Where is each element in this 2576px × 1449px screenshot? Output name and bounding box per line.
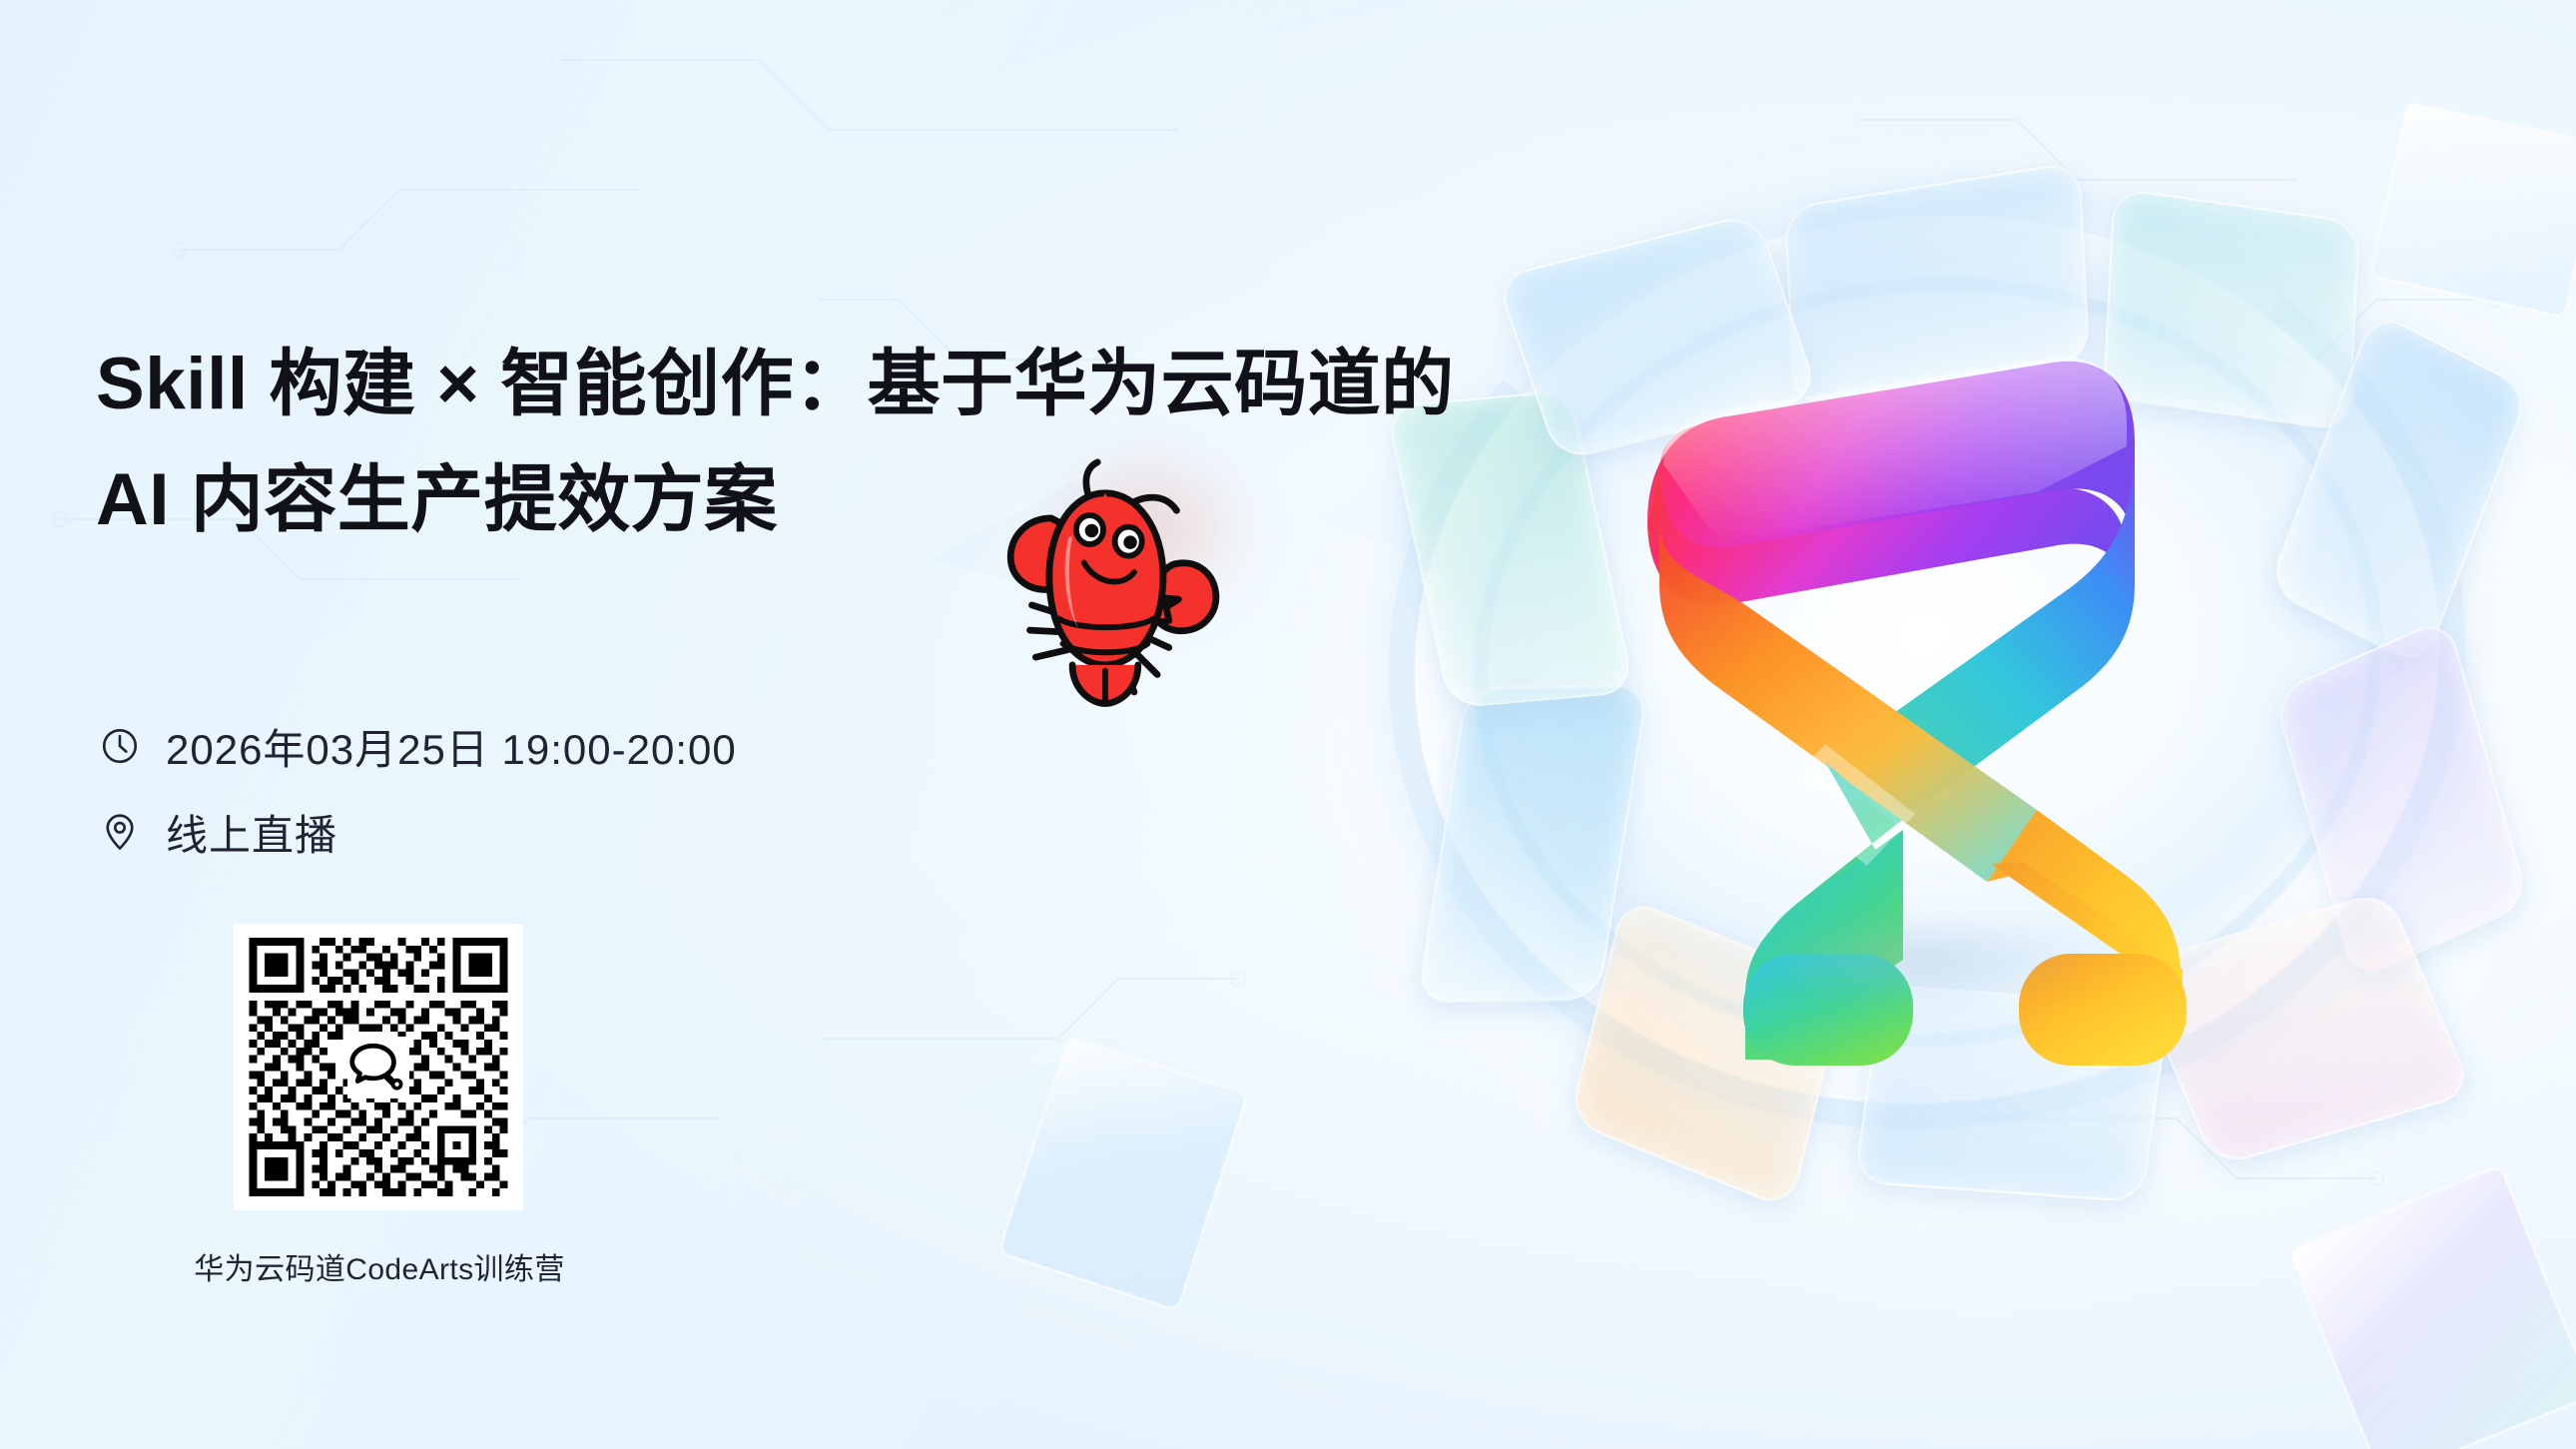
wechat-channels-icon [347,1037,409,1098]
event-location-row: 线上直播 [98,797,737,867]
location-pin-icon [98,810,142,854]
event-meta: 2026年03月25日 19:00-20:00 线上直播 [98,711,737,883]
lobster-sticker [959,429,1248,719]
speech-bubble-megaphone-icon [349,1039,407,1096]
codearts-3d-artwork [1268,40,2576,1418]
event-location: 线上直播 [166,802,337,863]
event-poster: Skill 构建 × 智能创作：基于华为云码道的 AI 内容生产提效方案 202… [0,0,2576,1449]
event-time-row: 2026年03月25日 19:00-20:00 [98,711,737,781]
clock-icon [98,724,142,768]
content-column: Skill 构建 × 智能创作：基于华为云码道的 AI 内容生产提效方案 202… [0,0,1278,1449]
ribbon-shadow [1687,894,2157,1024]
event-time: 2026年03月25日 19:00-20:00 [166,716,737,777]
qr-code[interactable] [234,924,523,1210]
qr-block: 华为云码道CodeArts训练营 [140,924,509,1288]
qr-caption: 华为云码道CodeArts训练营 [140,1244,619,1288]
lobster-icon [959,429,1248,719]
ribbon-sculpture [1568,255,2266,1084]
